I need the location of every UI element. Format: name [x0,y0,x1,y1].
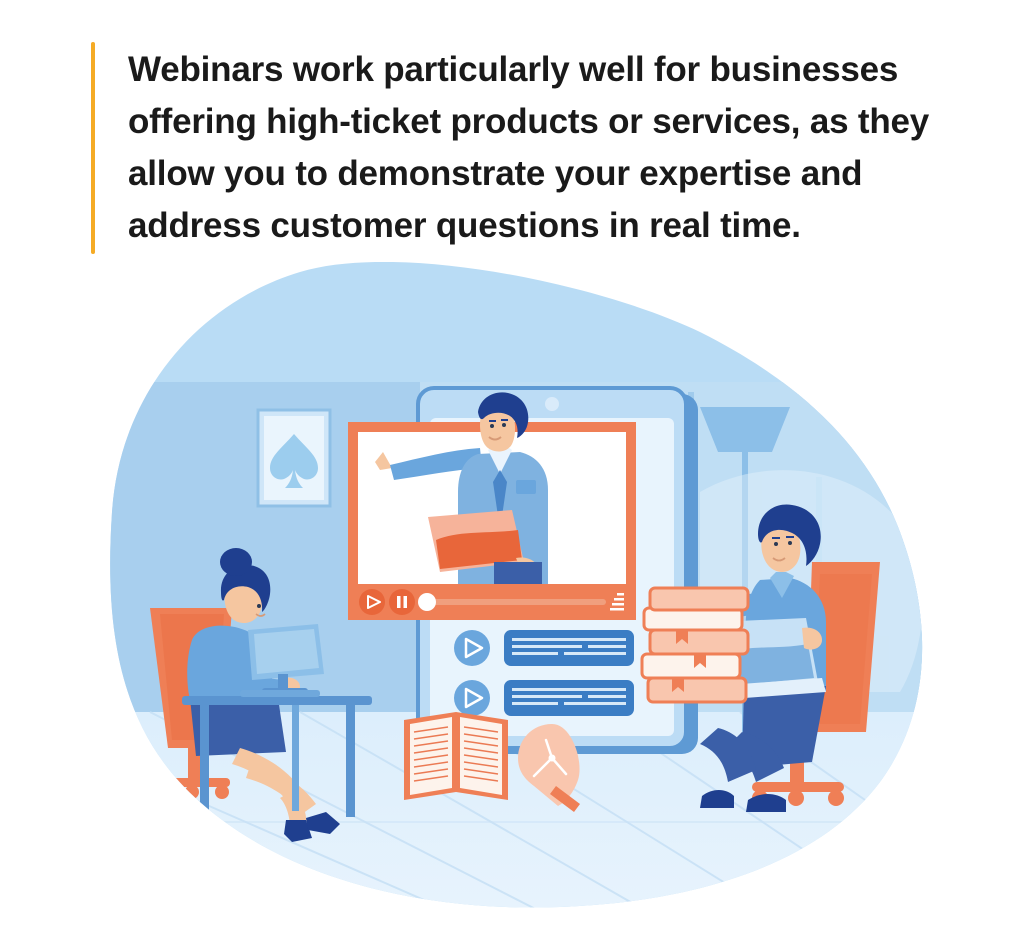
illustration-svg [0,262,1024,937]
stack-book-1 [648,678,746,702]
framed-spade-picture [258,410,330,506]
quote-accent-bar [91,42,95,254]
webinar-illustration [0,262,1024,937]
video-player [348,392,636,620]
open-book [404,712,508,800]
pause-icon[interactable] [389,589,415,615]
quote-text: Webinars work particularly well for busi… [128,42,948,254]
stack-book-5 [650,588,748,610]
stack-book-2 [642,654,740,678]
tablet-camera-dot [545,397,559,411]
hair-bun [220,548,252,576]
pull-quote: Webinars work particularly well for busi… [91,42,951,254]
book-stack [642,588,748,702]
stack-book-3 [650,630,748,654]
play-circle-icon[interactable] [454,680,490,716]
progress-knob[interactable] [418,593,436,611]
play-icon[interactable] [359,589,385,615]
playlist-row-2[interactable] [454,680,634,716]
play-circle-icon[interactable] [454,630,490,666]
playlist-row-1[interactable] [454,630,634,666]
scene-contents [40,382,1010,937]
video-control-bar[interactable] [348,584,636,620]
